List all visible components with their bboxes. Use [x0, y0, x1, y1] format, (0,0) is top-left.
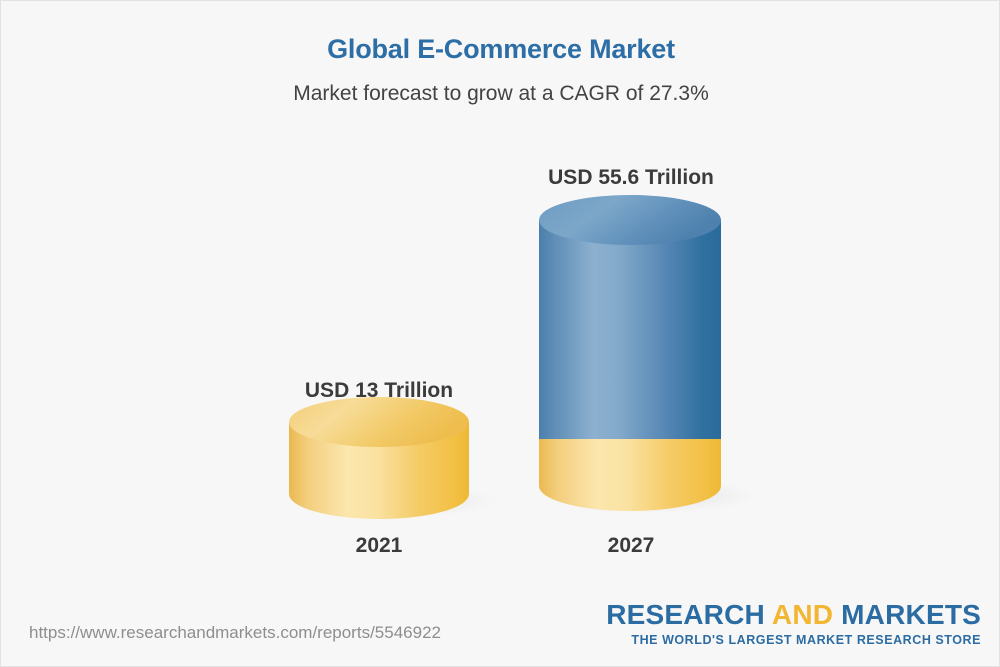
bar-2027-category-label: 2027	[540, 534, 722, 558]
bar-2027-body	[539, 220, 721, 439]
bar-2027-value-label: USD 55.6 Trillion	[540, 166, 722, 190]
logo-word-research: RESEARCH	[606, 599, 765, 630]
cylinder-bars-svg	[1, 1, 1000, 667]
bar-2021-category-label: 2021	[289, 534, 469, 558]
bar-2027-base-segment	[539, 439, 721, 511]
bar-2021[interactable]	[289, 397, 499, 519]
bar-2021-top	[289, 397, 469, 447]
infographic-canvas: Global E-Commerce Market Market forecast…	[0, 0, 1000, 667]
bar-2021-value-label: USD 13 Trillion	[289, 379, 469, 403]
logo-word-markets: MARKETS	[841, 599, 981, 630]
bar-2027-top	[539, 195, 721, 245]
research-and-markets-logo[interactable]: RESEARCH AND MARKETS THE WORLD'S LARGEST…	[606, 601, 981, 647]
logo-word-and: AND	[772, 599, 833, 630]
report-url-link[interactable]: https://www.researchandmarkets.com/repor…	[29, 623, 441, 643]
chart-plot-area: USD 13 Trillion USD 55.6 Trillion 2021 2…	[1, 1, 1000, 667]
logo-wordmark: RESEARCH AND MARKETS	[606, 601, 981, 629]
logo-tagline: THE WORLD'S LARGEST MARKET RESEARCH STOR…	[606, 634, 981, 647]
bar-2027[interactable]	[539, 195, 759, 514]
